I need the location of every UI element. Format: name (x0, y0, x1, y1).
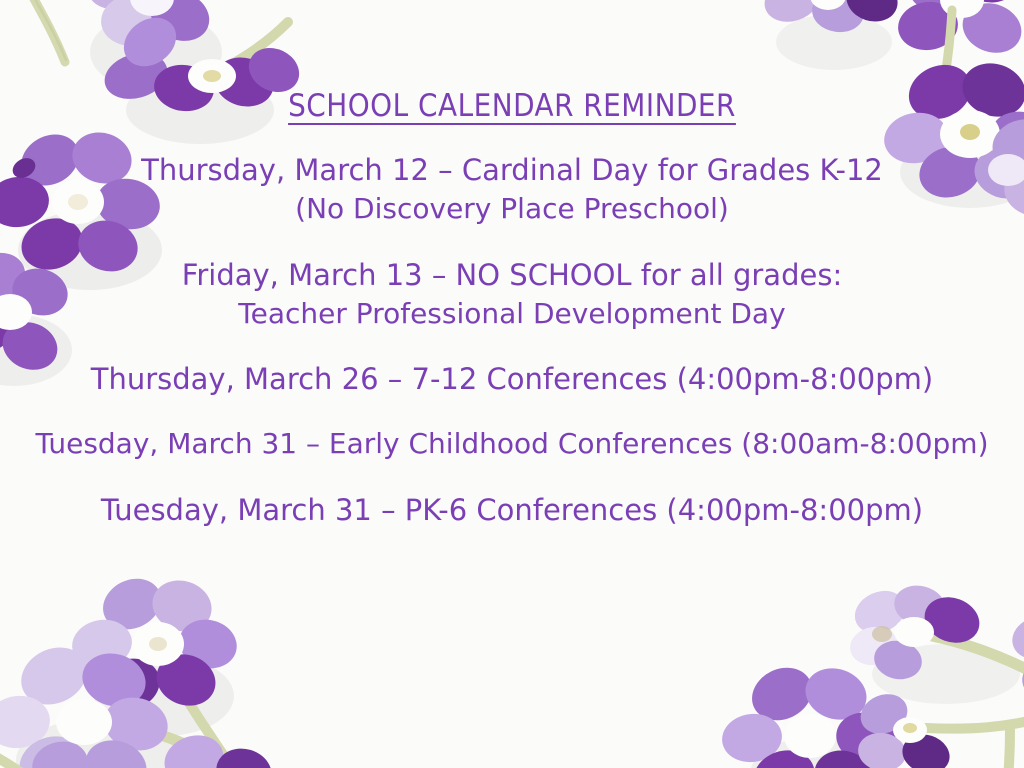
page-title: SCHOOL CALENDAR REMINDER (288, 88, 736, 124)
calendar-entry-list: Thursday, March 12 – Cardinal Day for Gr… (0, 150, 1024, 530)
entry-sub-line: (No Discovery Place Preschool) (141, 190, 883, 229)
poster-content: SCHOOL CALENDAR REMINDER Thursday, March… (0, 0, 1024, 768)
entry-main-line: Tuesday, March 31 – PK-6 Conferences (4:… (101, 490, 923, 530)
calendar-entry: Friday, March 13 – NO SCHOOL for all gra… (182, 255, 842, 334)
entry-main-line: Thursday, March 26 – 7-12 Conferences (4… (91, 359, 933, 399)
calendar-entry: Tuesday, March 31 – Early Childhood Conf… (36, 425, 989, 464)
entry-main-line: Friday, March 13 – NO SCHOOL for all gra… (182, 255, 842, 295)
entry-main-line: Tuesday, March 31 – Early Childhood Conf… (36, 425, 989, 464)
poster-canvas: SCHOOL CALENDAR REMINDER Thursday, March… (0, 0, 1024, 768)
entry-main-line: Thursday, March 12 – Cardinal Day for Gr… (141, 150, 883, 190)
entry-sub-line: Teacher Professional Development Day (182, 295, 842, 334)
calendar-entry: Thursday, March 26 – 7-12 Conferences (4… (91, 359, 933, 399)
calendar-entry: Tuesday, March 31 – PK-6 Conferences (4:… (101, 490, 923, 530)
calendar-entry: Thursday, March 12 – Cardinal Day for Gr… (141, 150, 883, 229)
